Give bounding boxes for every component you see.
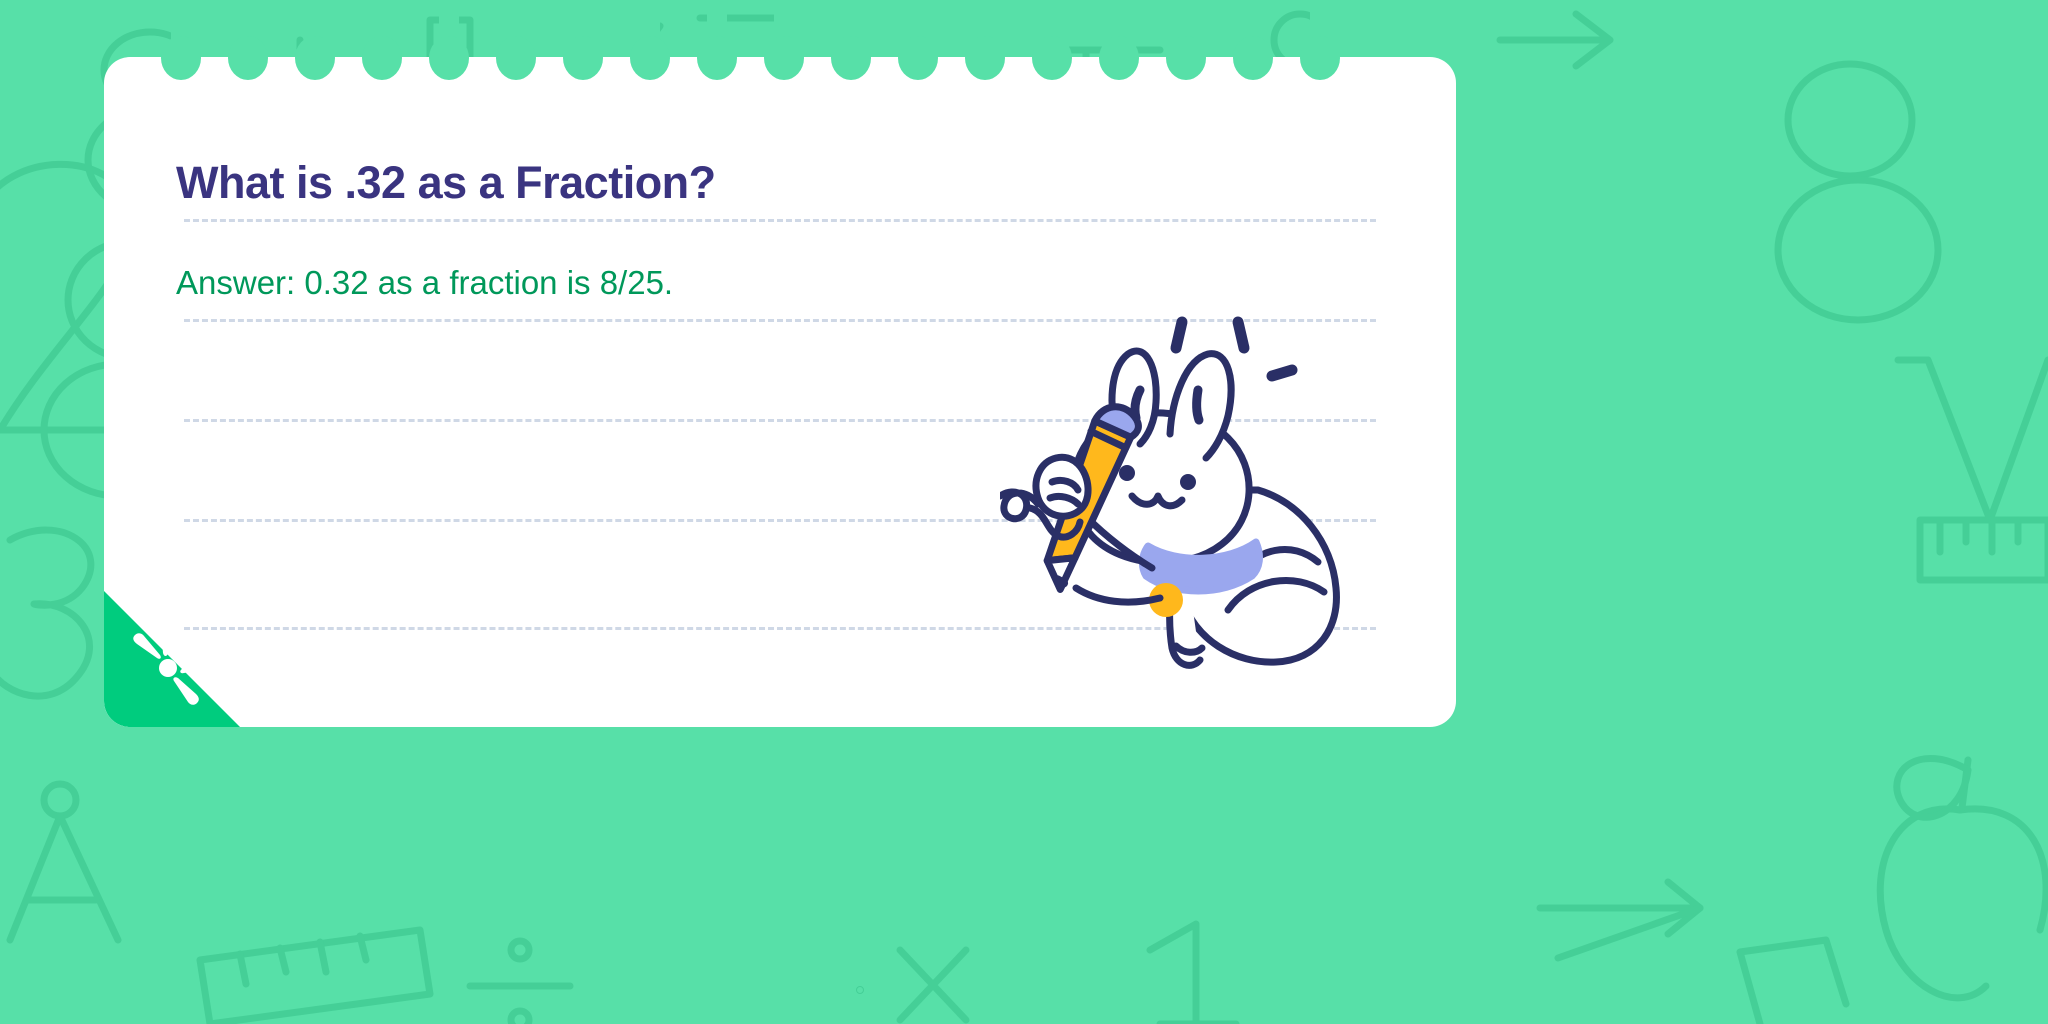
answer-text: Answer: 0.32 as a fraction is 8/25.	[176, 264, 673, 302]
sparkle-burst-icon	[104, 591, 240, 727]
ruled-line	[184, 219, 1376, 222]
mascot-bunny-writing-icon	[1000, 310, 1340, 670]
page-title: What is .32 as a Fraction?	[176, 157, 716, 209]
corner-badge[interactable]	[104, 591, 240, 727]
